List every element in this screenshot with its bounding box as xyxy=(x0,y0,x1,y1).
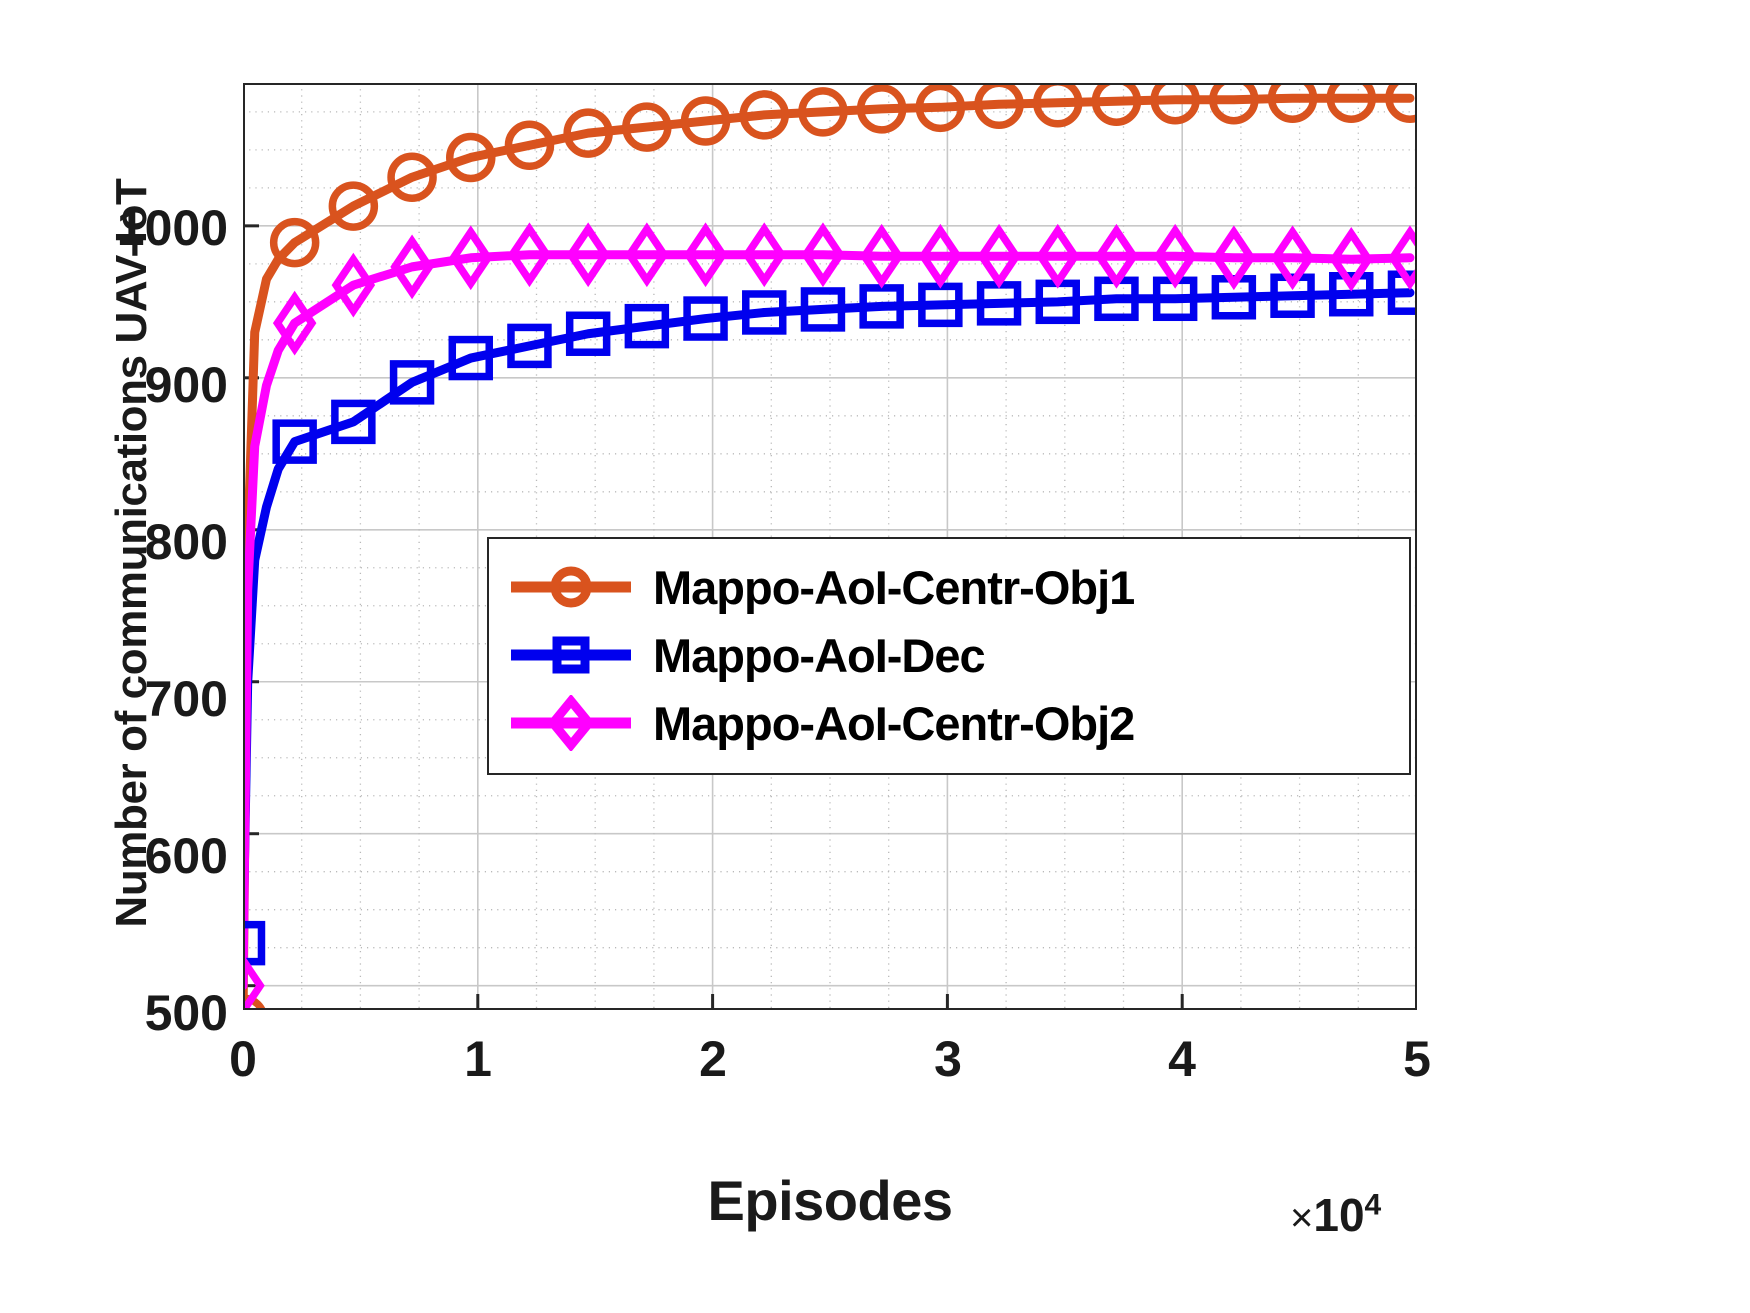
legend-item-dec[interactable]: Mappo-AoI-Dec xyxy=(507,621,1391,689)
x-tick-label-4: 4 xyxy=(1168,1030,1196,1088)
x-tick-label-0: 0 xyxy=(229,1030,257,1088)
legend-marker-diamond-icon xyxy=(507,695,635,751)
x-tick-label-2: 2 xyxy=(699,1030,727,1088)
legend-label-obj2: Mappo-AoI-Centr-Obj2 xyxy=(653,700,1134,747)
exponent-power: 4 xyxy=(1365,1189,1382,1222)
legend-marker-circle-icon xyxy=(507,559,635,615)
legend-item-obj1[interactable]: Mappo-AoI-Centr-Obj1 xyxy=(507,553,1391,621)
legend-label-obj1: Mappo-AoI-Centr-Obj1 xyxy=(653,564,1134,611)
y-tick-label-700: 700 xyxy=(145,670,228,728)
legend-item-obj2[interactable]: Mappo-AoI-Centr-Obj2 xyxy=(507,689,1391,757)
y-tick-label-1000: 1000 xyxy=(117,199,228,257)
x-axis-exponent-label: ×104 xyxy=(1290,1188,1381,1242)
y-tick-label-900: 900 xyxy=(145,356,228,414)
chart-figure: Number of communications UAV-IoT 1000 90… xyxy=(0,0,1750,1313)
legend-marker-square-icon xyxy=(507,627,635,683)
legend: Mappo-AoI-Centr-Obj1 Mappo-AoI-Dec Mappo… xyxy=(487,537,1411,775)
y-tick-label-600: 600 xyxy=(145,827,228,885)
x-tick-label-1: 1 xyxy=(464,1030,492,1088)
x-tick-label-5: 5 xyxy=(1403,1030,1431,1088)
y-tick-label-500: 500 xyxy=(145,984,228,1042)
x-axis-label: Episodes xyxy=(243,1168,1417,1233)
x-tick-label-3: 3 xyxy=(934,1030,962,1088)
exponent-base: 10 xyxy=(1313,1189,1364,1241)
legend-label-dec: Mappo-AoI-Dec xyxy=(653,632,985,679)
multiply-icon: × xyxy=(1290,1196,1313,1240)
y-tick-label-800: 800 xyxy=(145,513,228,571)
